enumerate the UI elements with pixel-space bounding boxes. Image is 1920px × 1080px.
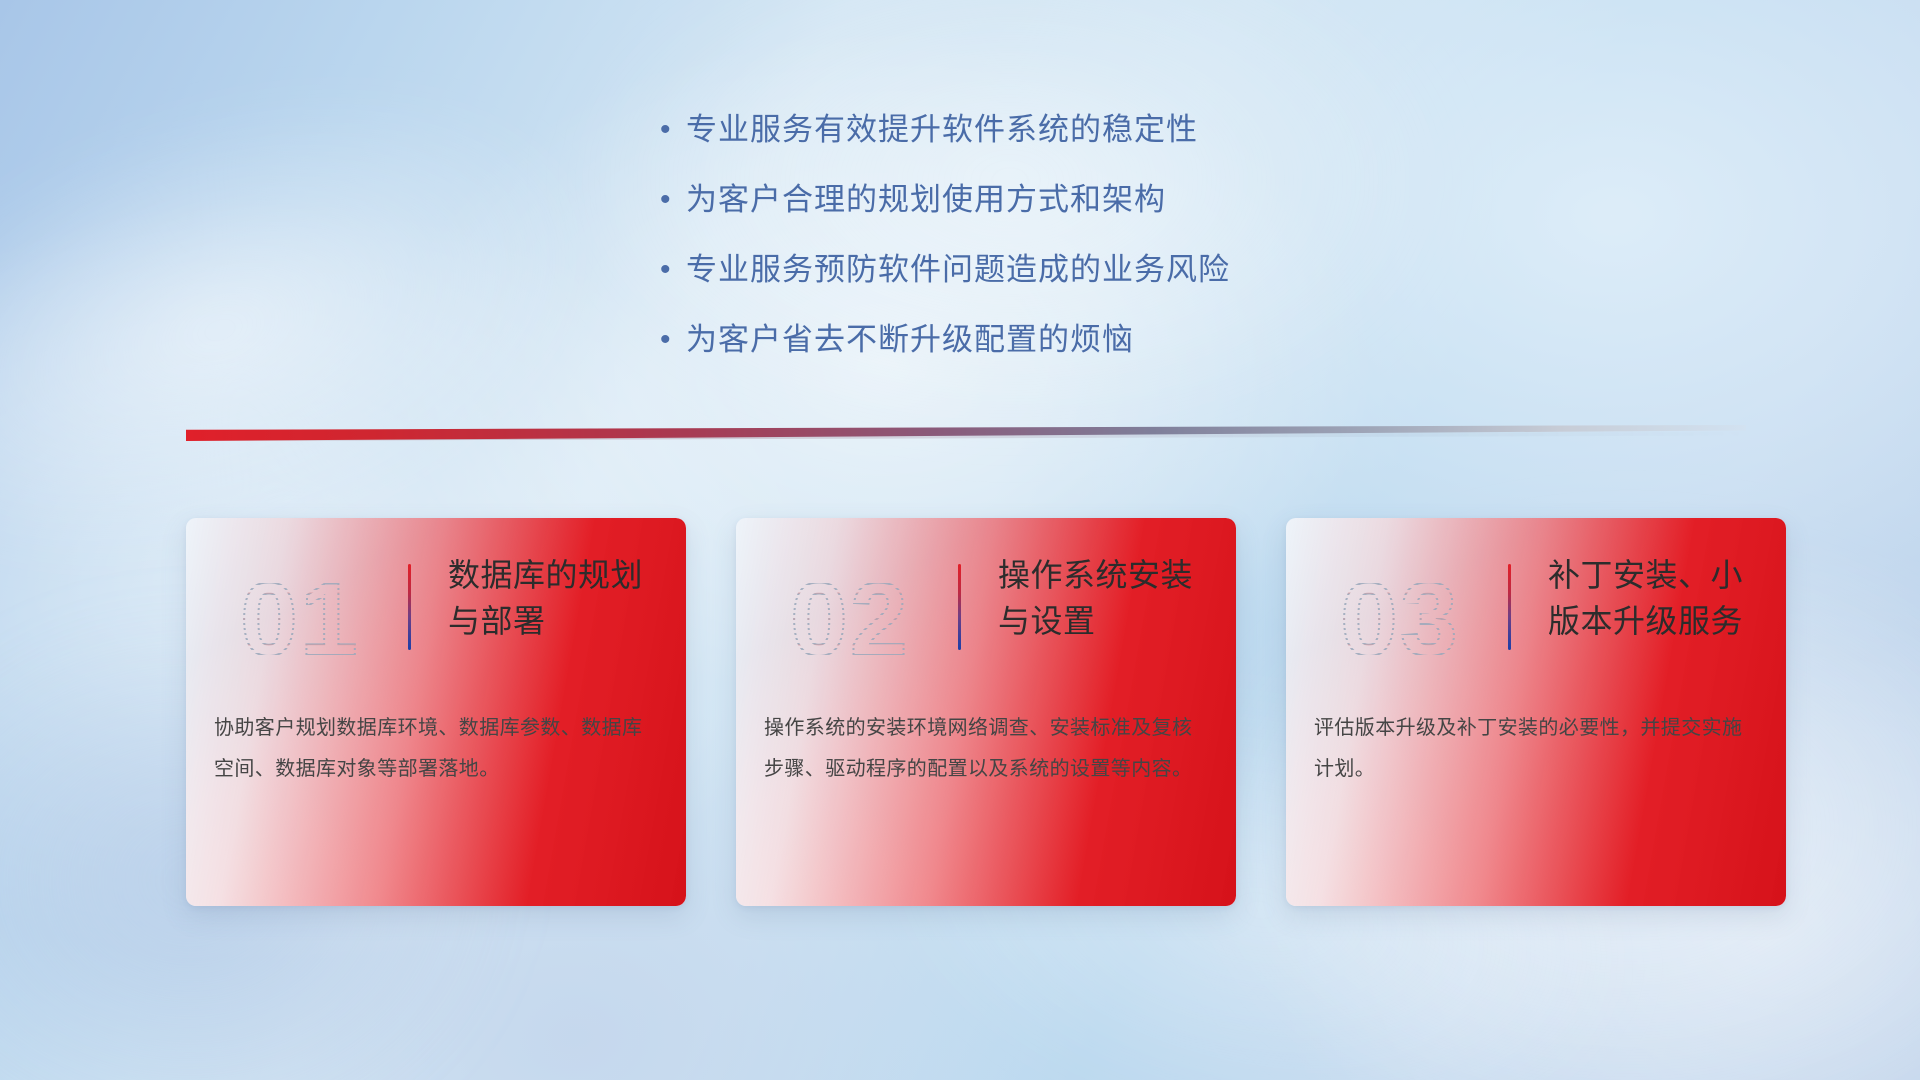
card-number-stripes-red: 03 [1340,560,1490,680]
card-number-watermark: 02 02 [762,546,932,674]
card-grid: 01 01 数据库的规划与部署 协助客户规划数据库环境、数据库参数、数据库空间、… [0,0,1920,1080]
card-number-watermark: 01 01 [212,546,382,674]
card-title: 数据库的规划与部署 [448,552,666,644]
card-number-watermark: 03 03 [1312,546,1482,674]
card-title: 操作系统安装与设置 [998,552,1216,644]
card-divider-rule [1508,564,1511,650]
card-number-stripes-red: 02 [790,560,940,680]
card-body-text: 评估版本升级及补丁安装的必要性，并提交实施计划。 [1314,708,1744,790]
slide-canvas: • 专业服务有效提升软件系统的稳定性 • 为客户合理的规划使用方式和架构 • 专… [0,0,1920,1080]
card-title: 补丁安装、小版本升级服务 [1548,552,1766,644]
feature-card-02[interactable]: 02 02 操作系统安装与设置 操作系统的安装环境网络调查、安装标准及复核步骤、… [736,518,1236,906]
card-number-stripes-red: 01 [240,560,390,680]
feature-card-01[interactable]: 01 01 数据库的规划与部署 协助客户规划数据库环境、数据库参数、数据库空间、… [186,518,686,906]
card-body-text: 操作系统的安装环境网络调查、安装标准及复核步骤、驱动程序的配置以及系统的设置等内… [764,708,1208,790]
card-divider-rule [958,564,961,650]
card-body-text: 协助客户规划数据库环境、数据库参数、数据库空间、数据库对象等部署落地。 [214,708,658,790]
card-divider-rule [408,564,411,650]
feature-card-03[interactable]: 03 03 补丁安装、小版本升级服务 评估版本升级及补丁安装的必要性，并提交实施… [1286,518,1786,906]
